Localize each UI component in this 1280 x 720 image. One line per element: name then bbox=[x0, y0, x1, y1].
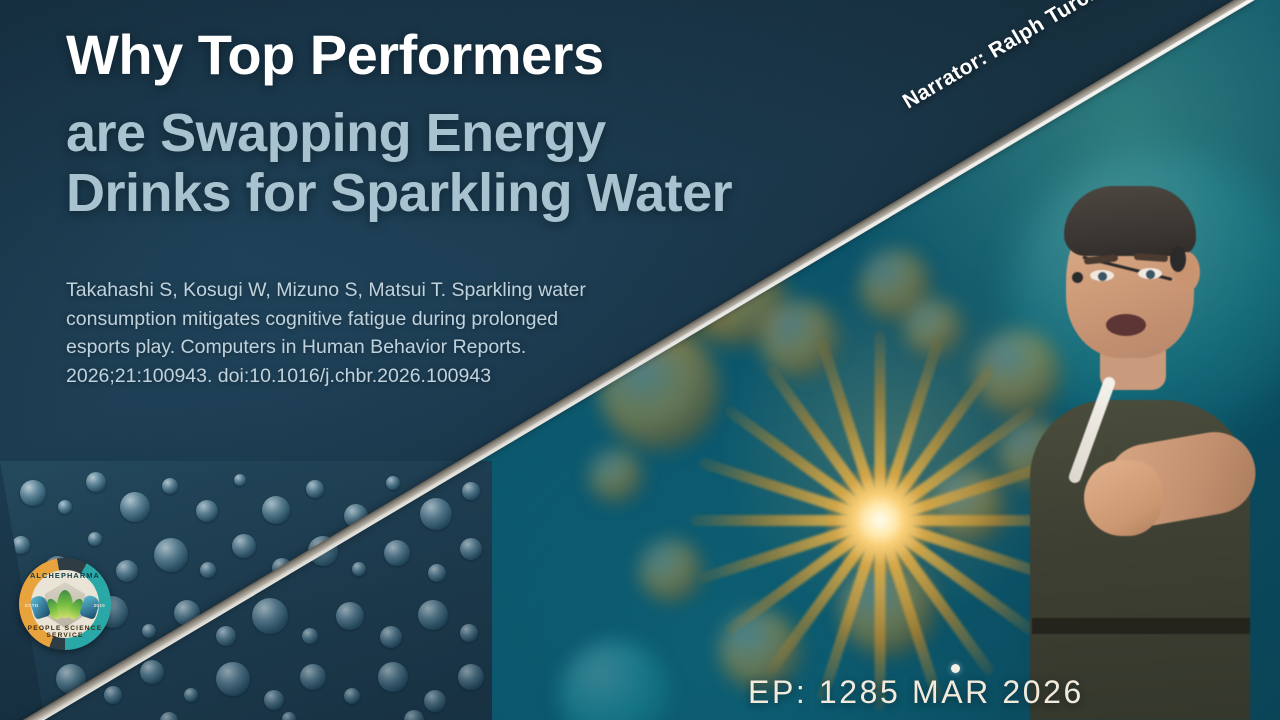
headset-earpiece-icon bbox=[1170, 246, 1186, 272]
headset-mic-tip bbox=[1072, 272, 1083, 283]
logo-estd-left: ESTD bbox=[25, 603, 38, 608]
presenter-pupil-right bbox=[1146, 270, 1155, 279]
presenter-pupil-left bbox=[1098, 272, 1107, 281]
title-line-1: Why Top Performers bbox=[66, 24, 886, 87]
title-line-2: are Swapping Energy bbox=[66, 103, 886, 163]
video-thumbnail-canvas: Why Top Performers are Swapping Energy D… bbox=[0, 0, 1280, 720]
presenter-belt bbox=[1032, 618, 1250, 634]
presenter-mouth bbox=[1106, 314, 1146, 336]
brand-logo[interactable]: ESTD 2010 ALCHEPHARMA PEOPLE SCIENCE SER… bbox=[19, 558, 111, 650]
citation-text: Takahashi S, Kosugi W, Mizuno S, Matsui … bbox=[66, 276, 611, 391]
logo-tagline-text: PEOPLE SCIENCE SERVICE bbox=[19, 625, 111, 639]
logo-estd-right: 2010 bbox=[94, 603, 105, 608]
page-title: Why Top Performers are Swapping Energy D… bbox=[66, 24, 886, 224]
presenter-hand bbox=[1084, 460, 1162, 536]
title-line-3: Drinks for Sparkling Water bbox=[66, 163, 886, 223]
logo-brand-text: ALCHEPHARMA bbox=[19, 571, 111, 580]
episode-label: EP: 1285 MAR 2026 bbox=[748, 674, 1084, 711]
presenter-figure bbox=[988, 160, 1280, 720]
episode-accent-dot bbox=[951, 664, 960, 673]
